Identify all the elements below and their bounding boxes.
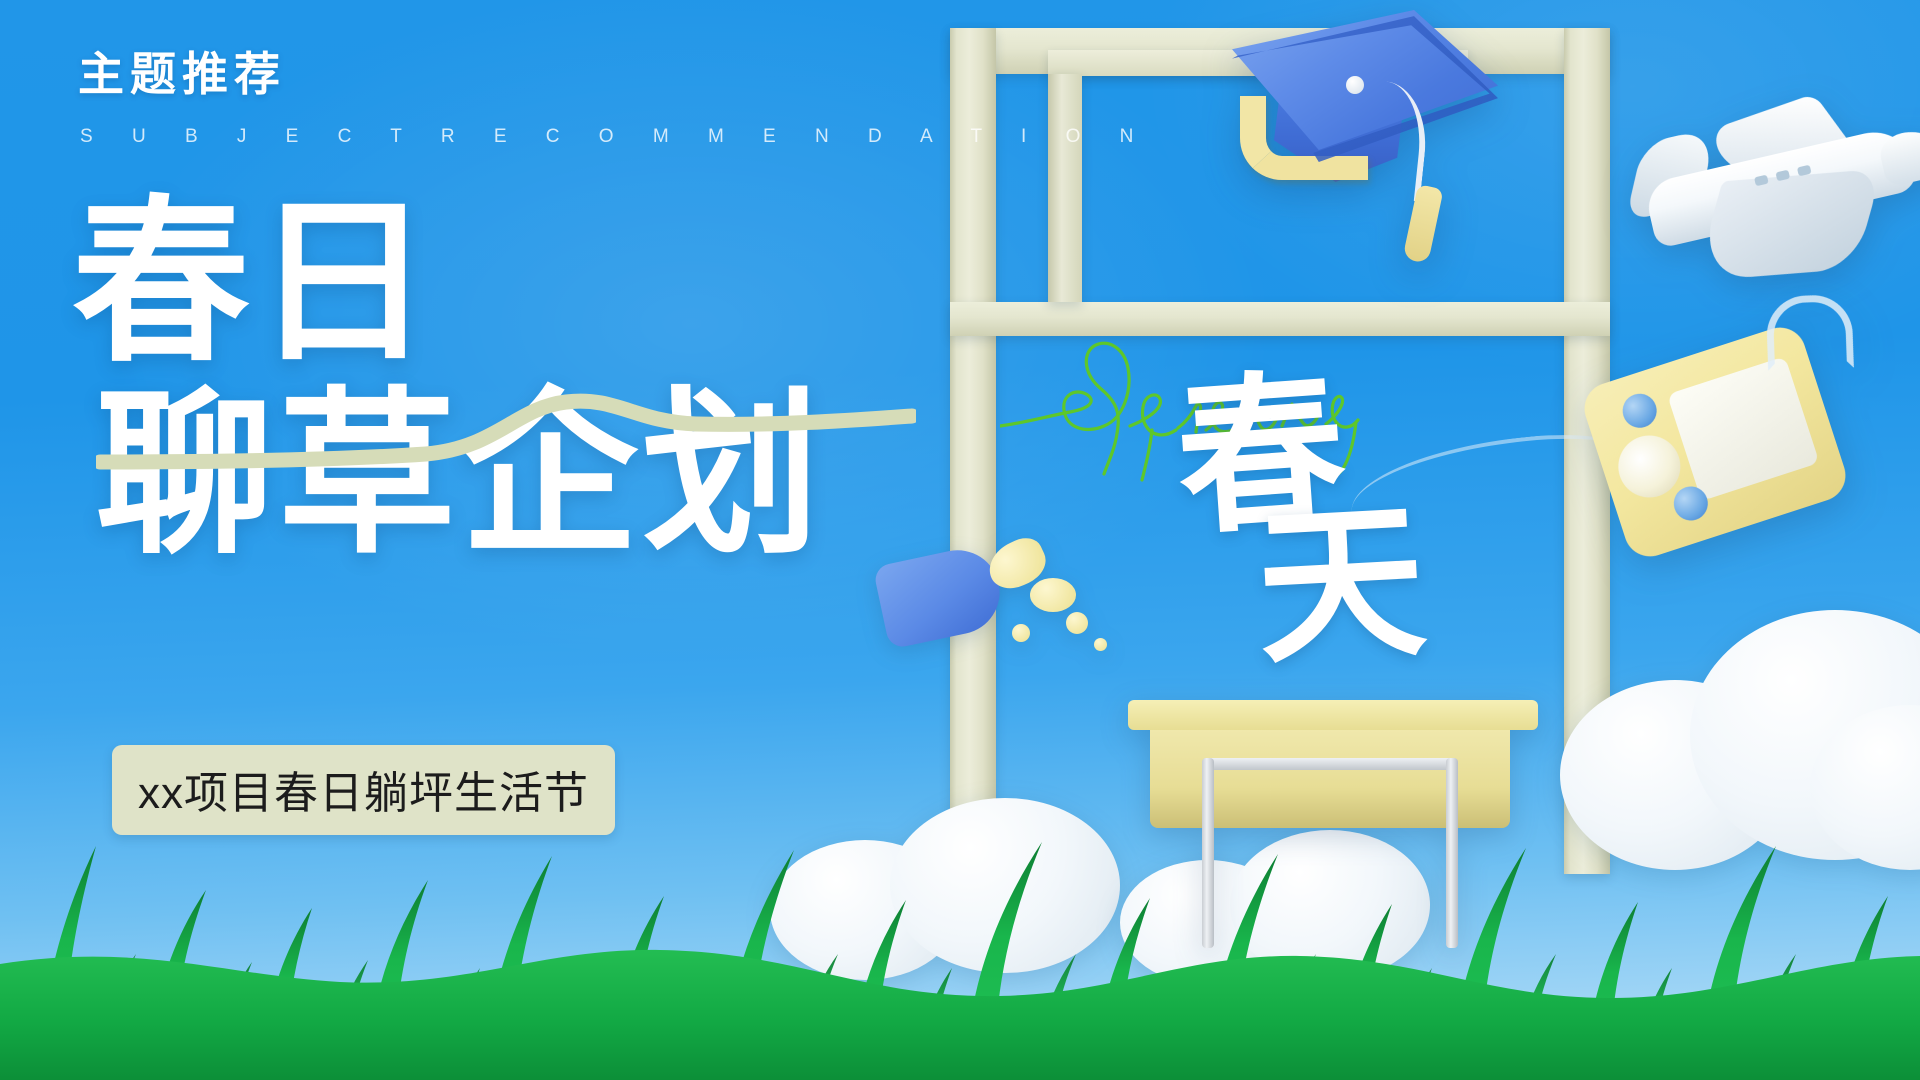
page-title: 春日 聊草企划 bbox=[72, 196, 824, 563]
kicker-english: S U B J E C T R E C O M M E N D A T I O … bbox=[80, 126, 1150, 148]
headline-line-2: 聊草企划 bbox=[96, 388, 824, 562]
kicker-chinese: 主题推荐 bbox=[78, 38, 286, 104]
graduation-cap-icon bbox=[1218, 10, 1518, 280]
frame-mid-rail bbox=[950, 302, 1610, 336]
poster-canvas: 春 天 bbox=[0, 0, 1920, 1080]
handheld-game-icon bbox=[1578, 321, 1852, 563]
school-desk-icon bbox=[1128, 700, 1538, 940]
game-strap-loop bbox=[1765, 294, 1854, 371]
cloud-puff bbox=[890, 798, 1120, 973]
splash-drop bbox=[1012, 624, 1030, 642]
desk-leg-left bbox=[1202, 758, 1214, 948]
splash-bottle bbox=[873, 542, 1008, 649]
splash-drop bbox=[1094, 638, 1107, 651]
cloud-middle bbox=[770, 790, 1110, 970]
subtitle-badge: xx项目春日躺坪生活节 bbox=[112, 745, 615, 835]
airplane-icon bbox=[1619, 59, 1920, 341]
frame-left-post bbox=[950, 28, 996, 874]
paint-splash-icon bbox=[880, 520, 1140, 700]
splash-drop bbox=[1066, 612, 1088, 634]
airplane-main-wing bbox=[1695, 169, 1883, 282]
desk-crossbar bbox=[1202, 758, 1458, 770]
cloud-right bbox=[1540, 610, 1920, 870]
cap-tassel-knob bbox=[1346, 76, 1364, 94]
desk-top bbox=[1128, 700, 1538, 730]
frame-inner-vertical bbox=[1048, 74, 1082, 302]
headline-line-1: 春日 bbox=[72, 183, 436, 382]
splash-drop bbox=[1030, 578, 1076, 612]
desk-leg-right bbox=[1446, 758, 1458, 948]
